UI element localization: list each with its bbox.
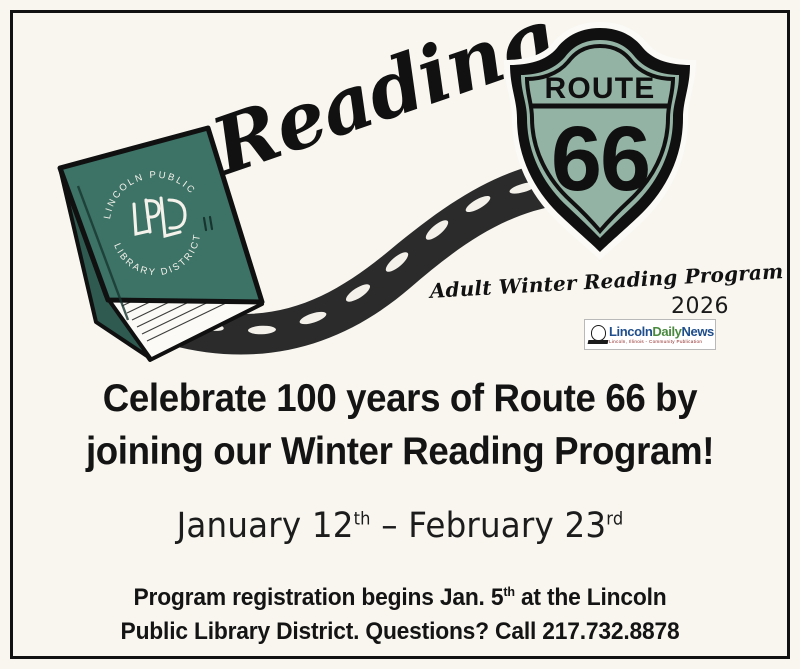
- date-start-suffix: th: [354, 509, 371, 529]
- lincoln-daily-news-logo[interactable]: LincolnDailyNews .com Lincoln, Illinois …: [584, 319, 716, 350]
- svg-text:Adult Winter Reading Program: Adult Winter Reading Program: [427, 259, 784, 303]
- route-66-shield: ROUTE 66: [504, 22, 696, 260]
- poster-artwork: LINCOLN PUBLIC LIBRARY DISTRICT: [0, 0, 800, 370]
- program-script-line: Adult Winter Reading Program: [427, 259, 784, 303]
- registration-line-2: Public Library District. Questions? Call…: [20, 615, 780, 649]
- date-end-suffix: rd: [606, 509, 623, 529]
- program-year: 2026: [671, 294, 729, 319]
- svg-text:2026: 2026: [671, 294, 729, 319]
- registration-line-1: Program registration begins Jan. 5th at …: [20, 581, 780, 615]
- headline-line-1: Celebrate 100 years of Route 66 by: [24, 372, 776, 425]
- sponsor-word-lincoln: Lincoln: [609, 325, 652, 338]
- date-start-day: 12: [312, 506, 354, 546]
- sponsor-word-daily: Daily: [652, 325, 681, 338]
- lincoln-silhouette-icon: [588, 324, 608, 346]
- date-start-month: January: [177, 506, 302, 546]
- sponsor-wordmark: LincolnDailyNews .com Lincoln, Illinois …: [609, 325, 716, 345]
- poster-copy-block: Celebrate 100 years of Route 66 by joini…: [0, 372, 800, 649]
- shield-number: 66: [551, 108, 649, 210]
- date-dash: –: [381, 506, 397, 546]
- registration-line-1-text-b: at the Lincoln: [515, 584, 667, 611]
- date-range: January 12th – February 23rd: [28, 504, 772, 548]
- poster-canvas: LINCOLN PUBLIC LIBRARY DISTRICT: [0, 0, 800, 669]
- shield-route-label: ROUTE: [545, 72, 656, 105]
- date-end-day: 23: [564, 506, 606, 546]
- headline-line-2: joining our Winter Reading Program!: [24, 425, 776, 478]
- sponsor-word-news: News: [682, 325, 714, 338]
- sponsor-tagline: Lincoln, Illinois - Community Publicatio…: [609, 340, 716, 345]
- registration-day-suffix: th: [503, 584, 514, 599]
- date-end-month: February: [408, 506, 554, 546]
- registration-info: Program registration begins Jan. 5th at …: [20, 581, 780, 649]
- registration-line-1-text-a: Program registration begins Jan. 5: [133, 584, 503, 611]
